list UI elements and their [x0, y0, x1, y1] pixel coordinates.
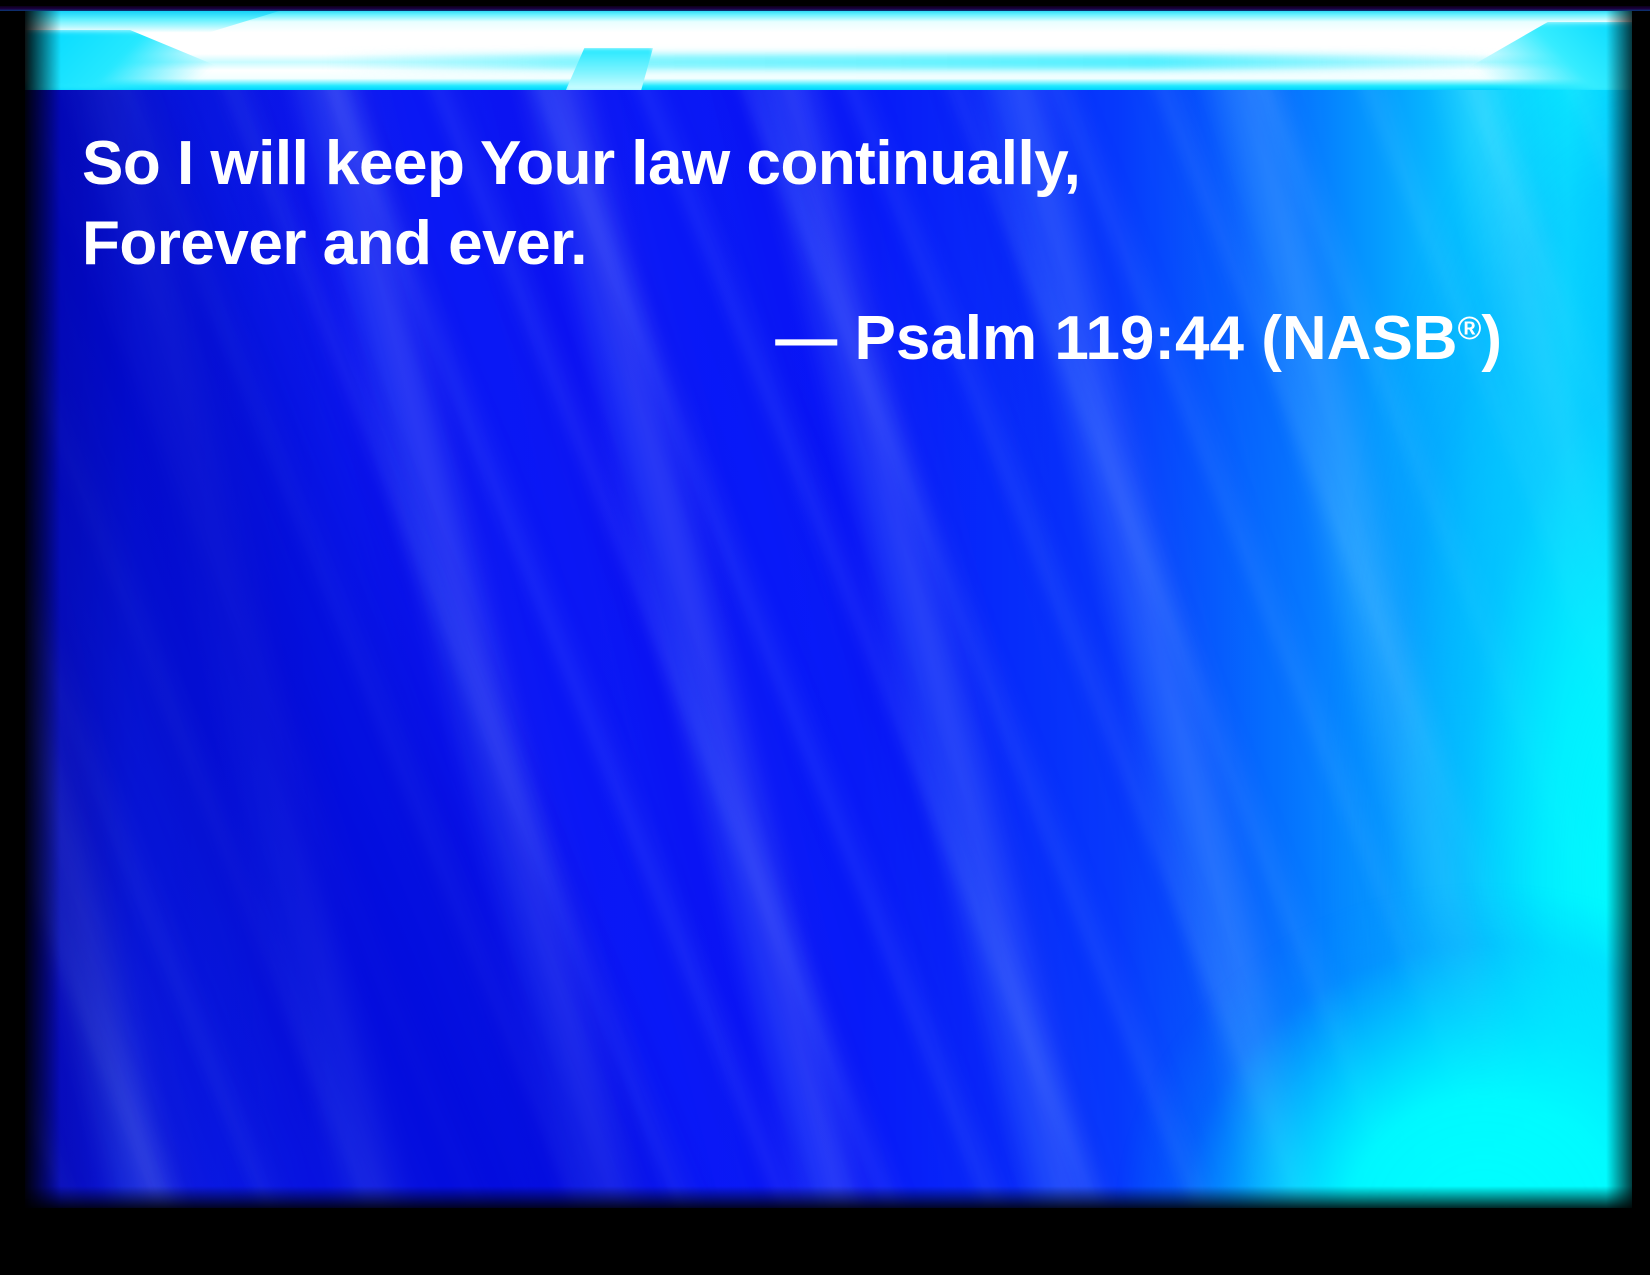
verse-line-2: Forever and ever.	[82, 204, 1522, 284]
attribution-version-close: )	[1481, 304, 1502, 373]
attribution-spacer-1	[837, 304, 854, 373]
top-glow-band	[25, 8, 1632, 90]
attribution-version-open: (NASB	[1261, 304, 1457, 373]
top-glow-band-streak	[325, 54, 1505, 70]
registered-trademark-icon: ®	[1458, 310, 1482, 346]
frame-border-right	[1632, 0, 1650, 1275]
verse-attribution: — Psalm 119:44 (NASB®)	[82, 288, 1502, 379]
verse-text-block: So I will keep Your law continually, For…	[82, 124, 1522, 284]
scripture-slide: So I will keep Your law continually, For…	[0, 0, 1650, 1275]
verse-line-1: So I will keep Your law continually,	[82, 124, 1522, 204]
attribution-reference: Psalm 119:44	[854, 304, 1244, 373]
attribution-spacer-2	[1244, 304, 1261, 373]
frame-top-accent-line	[0, 6, 1650, 11]
attribution-em-dash: —	[775, 304, 837, 373]
frame-border-bottom	[0, 1208, 1650, 1275]
frame-border-left	[0, 0, 25, 1275]
top-glow-band-core	[25, 8, 1632, 90]
